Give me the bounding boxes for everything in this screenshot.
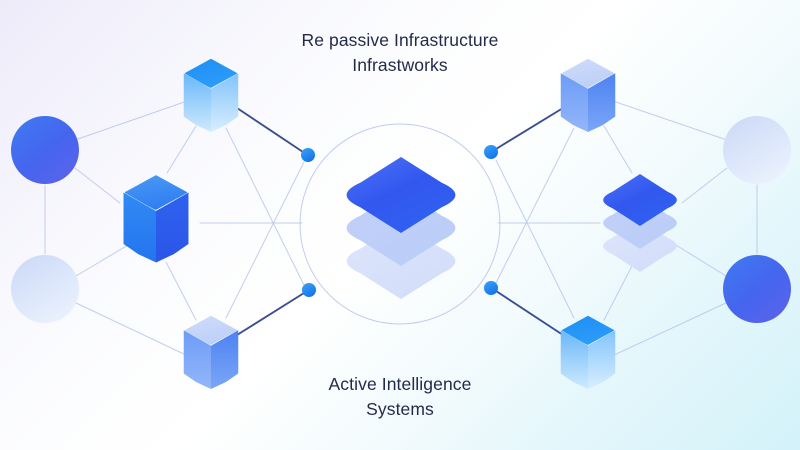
link-cube-lt-to-dot-bl bbox=[226, 128, 304, 285]
node-cube-right-top[interactable] bbox=[561, 59, 616, 132]
ring-dot-bottom-left[interactable] bbox=[302, 283, 316, 297]
node-circle-right-top[interactable] bbox=[723, 116, 791, 184]
link-cube-lb-to-dot-tl bbox=[226, 162, 304, 318]
node-circle-right-bottom[interactable] bbox=[723, 255, 791, 323]
link-circle-rt-to-stack-r bbox=[682, 168, 727, 203]
node-stack-right[interactable] bbox=[603, 174, 677, 272]
link-cube-rb-to-stack-r bbox=[604, 262, 634, 320]
page-title-bottom: Active Intelligence Systems bbox=[240, 372, 560, 422]
link-circle-rb-to-stack-r bbox=[676, 245, 726, 276]
link-circle-lt-to-cube-lt bbox=[75, 100, 190, 140]
link-cube-lt-to-cube-main bbox=[167, 126, 196, 173]
link-cube-rb-to-dot-tr bbox=[496, 160, 574, 318]
ring-dot-bottom-right[interactable] bbox=[484, 281, 498, 295]
node-circle-left-top[interactable] bbox=[11, 116, 79, 184]
ring-dot-top-left[interactable] bbox=[301, 148, 315, 162]
link-cube-rt-to-stack-r bbox=[604, 126, 632, 173]
link-cube-lt-to-dot-tl bbox=[237, 108, 303, 152]
node-cube-left-top[interactable] bbox=[184, 59, 239, 132]
link-cube-rt-to-dot-br bbox=[496, 128, 574, 283]
link-circle-lb-to-cube-main bbox=[76, 245, 128, 276]
link-cube-rb-to-dot-br bbox=[496, 291, 563, 335]
link-cube-lb-to-cube-main bbox=[166, 262, 196, 320]
page-title-top: Re passive Infrastructure Infrastworks bbox=[240, 28, 560, 78]
center-stack-group bbox=[347, 157, 456, 299]
ring-dot-top-right[interactable] bbox=[484, 145, 498, 159]
link-circle-rt-to-cube-rt bbox=[610, 100, 727, 140]
node-cube-left-bottom[interactable] bbox=[184, 316, 239, 389]
node-circle-left-bottom[interactable] bbox=[11, 255, 79, 323]
link-circle-lb-to-cube-lb bbox=[74, 302, 188, 356]
node-cube-left-main[interactable] bbox=[124, 175, 189, 262]
center-layers-stack[interactable] bbox=[347, 157, 456, 299]
diagram-canvas: Re passive Infrastructure Infrastworks A… bbox=[0, 0, 800, 450]
link-cube-rt-to-dot-tr bbox=[496, 108, 563, 149]
link-circle-rb-to-cube-rb bbox=[612, 302, 728, 356]
link-cube-lb-to-dot-bl bbox=[237, 293, 304, 335]
link-circle-lt-to-cube-main bbox=[75, 168, 120, 203]
node-cube-right-bottom[interactable] bbox=[561, 316, 616, 389]
